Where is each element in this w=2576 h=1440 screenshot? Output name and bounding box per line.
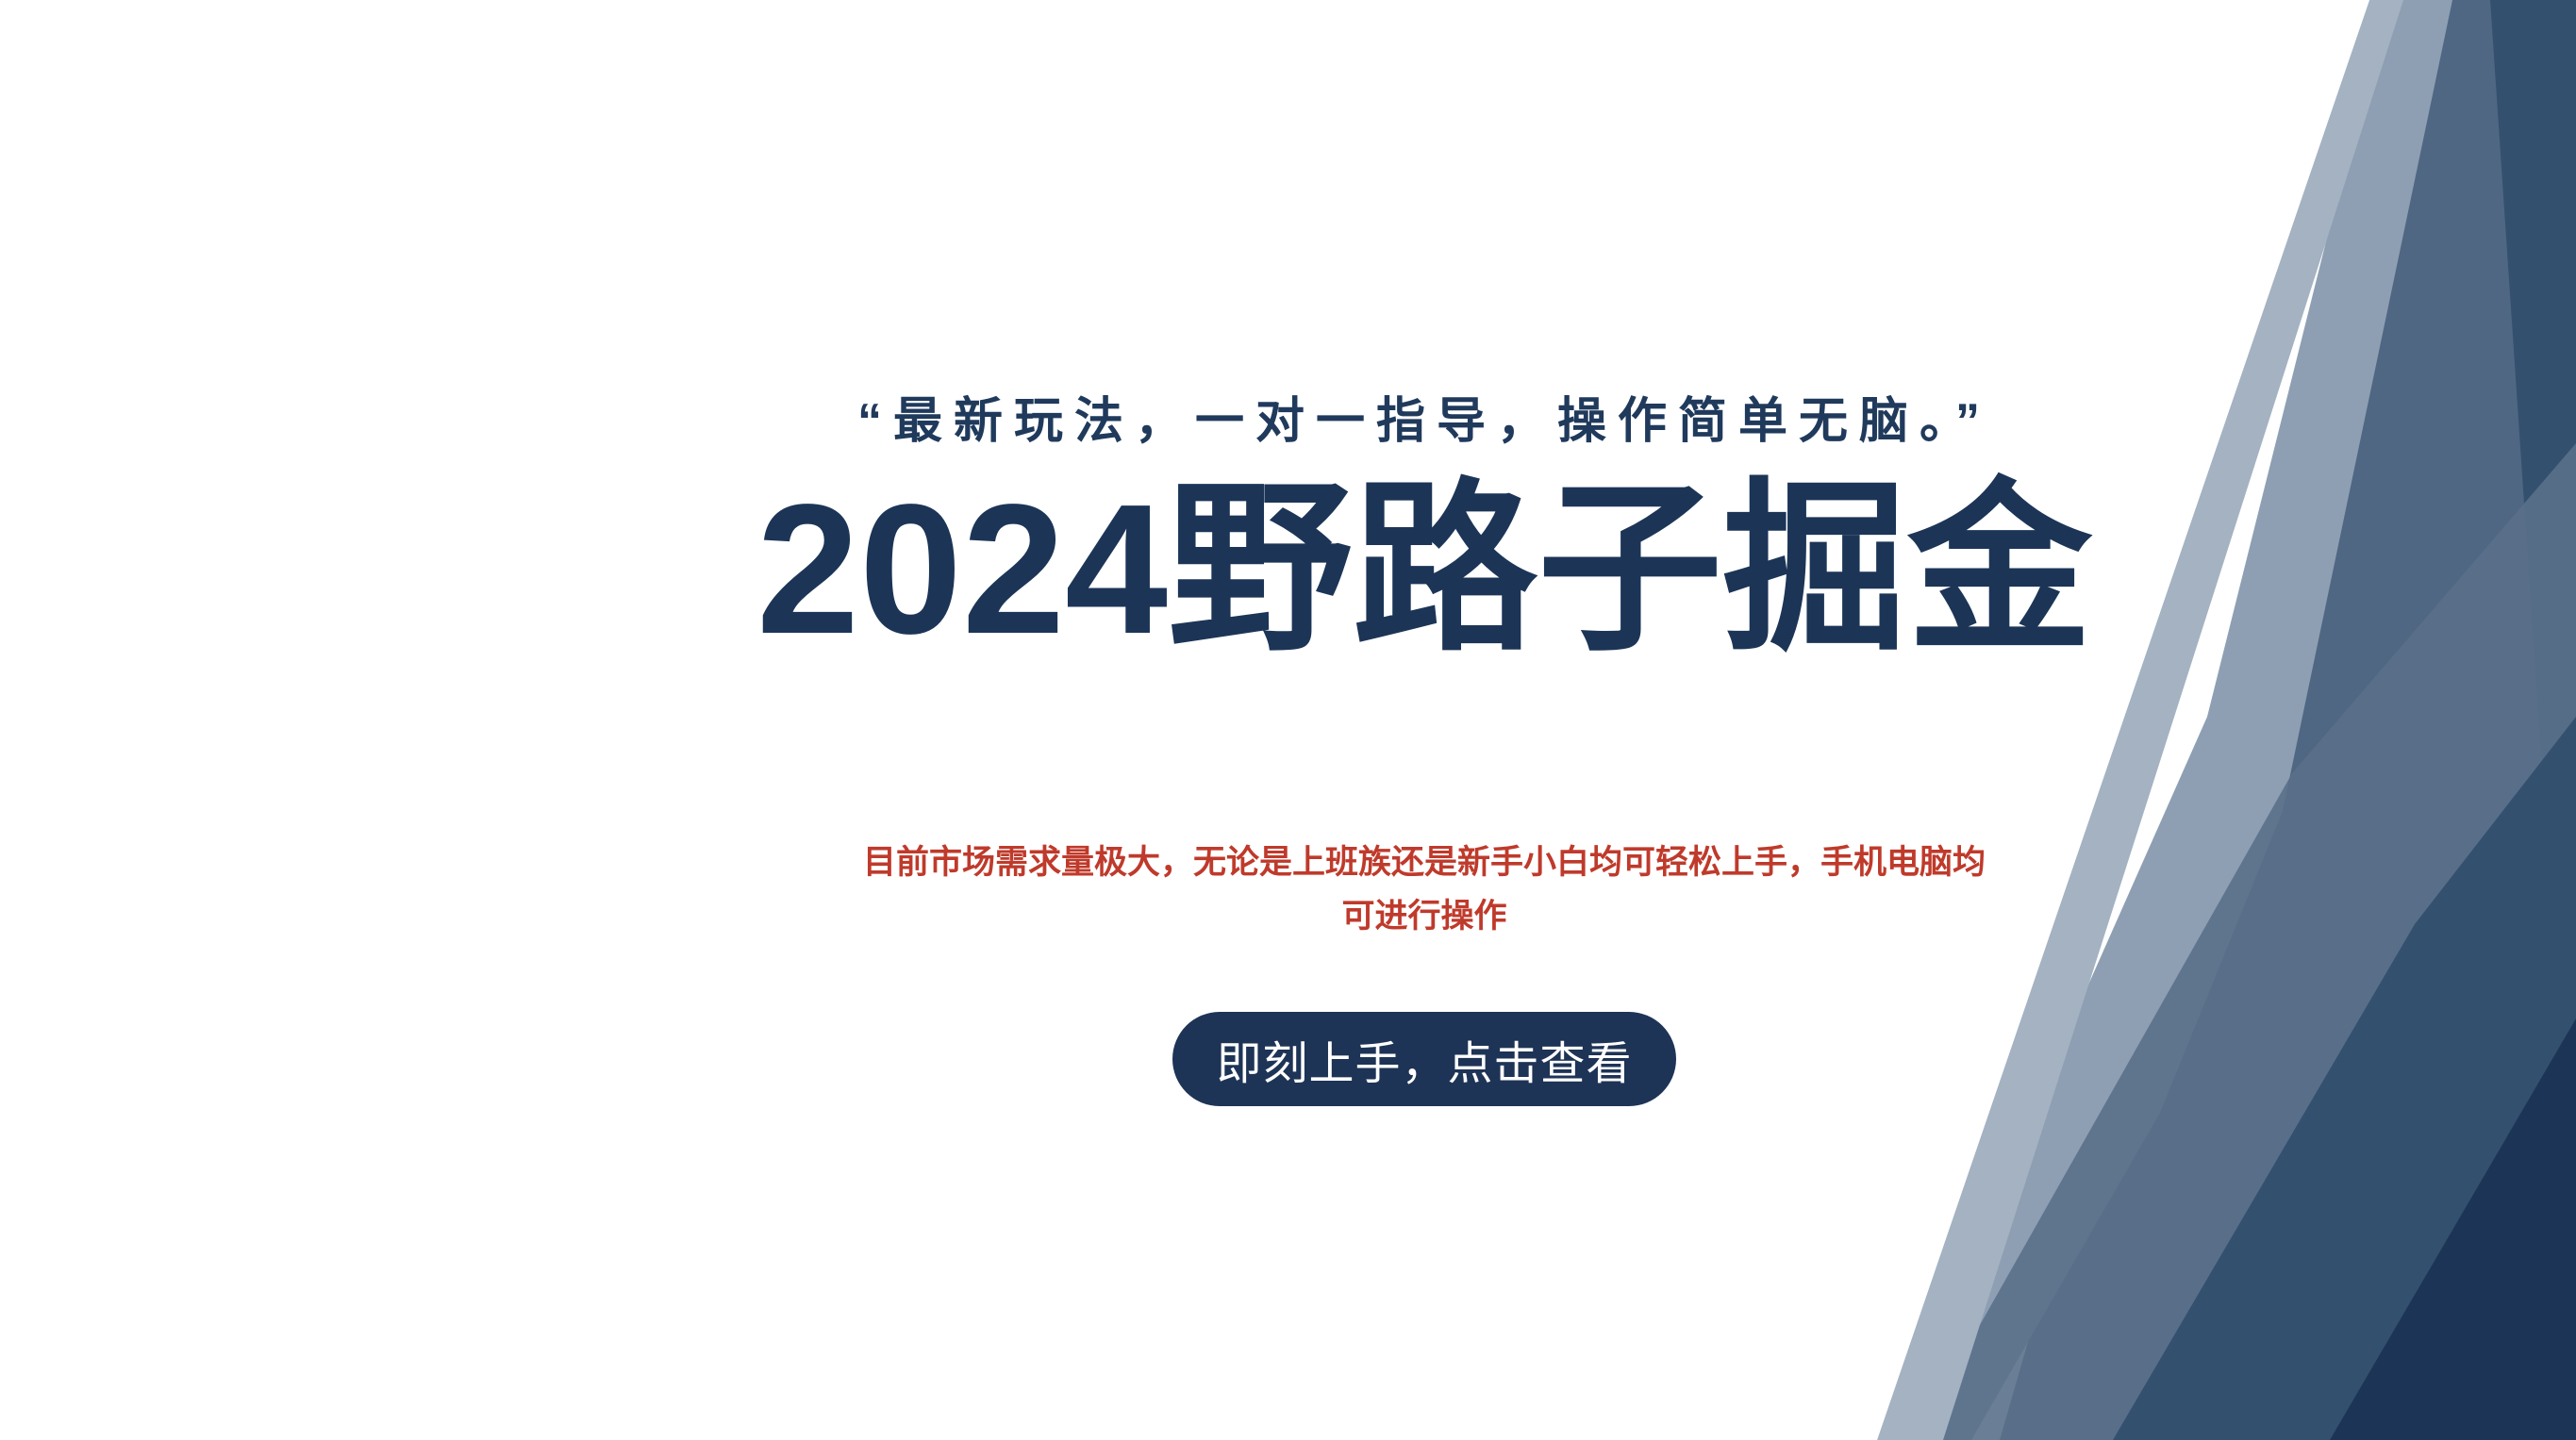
cta-button[interactable]: 即刻上手，点击查看: [1172, 1012, 1675, 1106]
slide-canvas: “最新玩法，一对一指导，操作简单无脑。” 2024野路子掘金 目前市场需求量极大…: [0, 0, 2576, 1440]
hero-eyebrow-quote: “最新玩法，一对一指导，操作简单无脑。”: [857, 391, 1991, 453]
hero-content: “最新玩法，一对一指导，操作简单无脑。” 2024野路子掘金 目前市场需求量极大…: [717, 0, 2132, 1440]
hero-tagline: 目前市场需求量极大，无论是上班族还是新手小白均可轻松上手，手机电脑均可进行操作: [863, 836, 1986, 943]
page-title: 2024野路子掘金: [756, 466, 2092, 673]
